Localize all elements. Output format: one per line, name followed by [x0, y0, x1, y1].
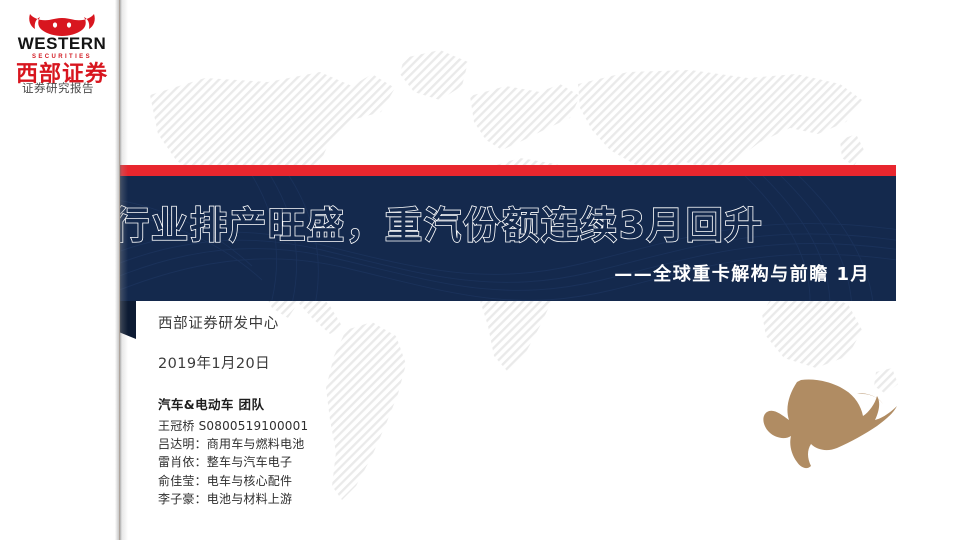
team-member: 雷肖依：整车与汽车电子 [158, 453, 308, 471]
organization-name: 西部证券研发中心 [158, 312, 308, 333]
team-member: 王冠桥 S0800519100001 [158, 417, 308, 435]
team-member: 吕达明：商用车与燃料电池 [158, 435, 308, 453]
banner-subtitle: ——全球重卡解构与前瞻 1月 [614, 260, 870, 286]
company-logo: WESTERN SECURITIES 西部证券 [10, 12, 114, 86]
banner-red-stripe [72, 165, 896, 176]
banner-title: 行业排产旺盛，重汽份额连续3月回升 [112, 195, 764, 249]
sidebar-caption: 证券研究报告 [0, 80, 116, 96]
team-member: 李子豪：电池与材料上游 [158, 490, 308, 508]
sidebar-panel: WESTERN SECURITIES 西部证券 证券研究报告 [0, 0, 120, 540]
bull-silhouette-icon [745, 378, 915, 483]
report-date: 2019年1月20日 [158, 352, 308, 373]
sidebar-edge-line [119, 0, 120, 540]
title-banner: 行业排产旺盛，重汽份额连续3月回升 ——全球重卡解构与前瞻 1月 [72, 165, 896, 301]
team-name: 汽车&电动车 团队 [158, 394, 308, 413]
slide-cover: 行业排产旺盛，重汽份额连续3月回升 ——全球重卡解构与前瞻 1月 西部证券研发中… [0, 0, 960, 540]
logo-english-name: WESTERN [10, 35, 114, 52]
logo-english-sub: SECURITIES [10, 54, 114, 60]
team-member: 俞佳莹：电车与核心配件 [158, 472, 308, 490]
cover-details: 西部证券研发中心 2019年1月20日 汽车&电动车 团队 王冠桥 S08005… [158, 312, 308, 508]
banner-navy-body: 行业排产旺盛，重汽份额连续3月回升 ——全球重卡解构与前瞻 1月 [72, 176, 896, 301]
